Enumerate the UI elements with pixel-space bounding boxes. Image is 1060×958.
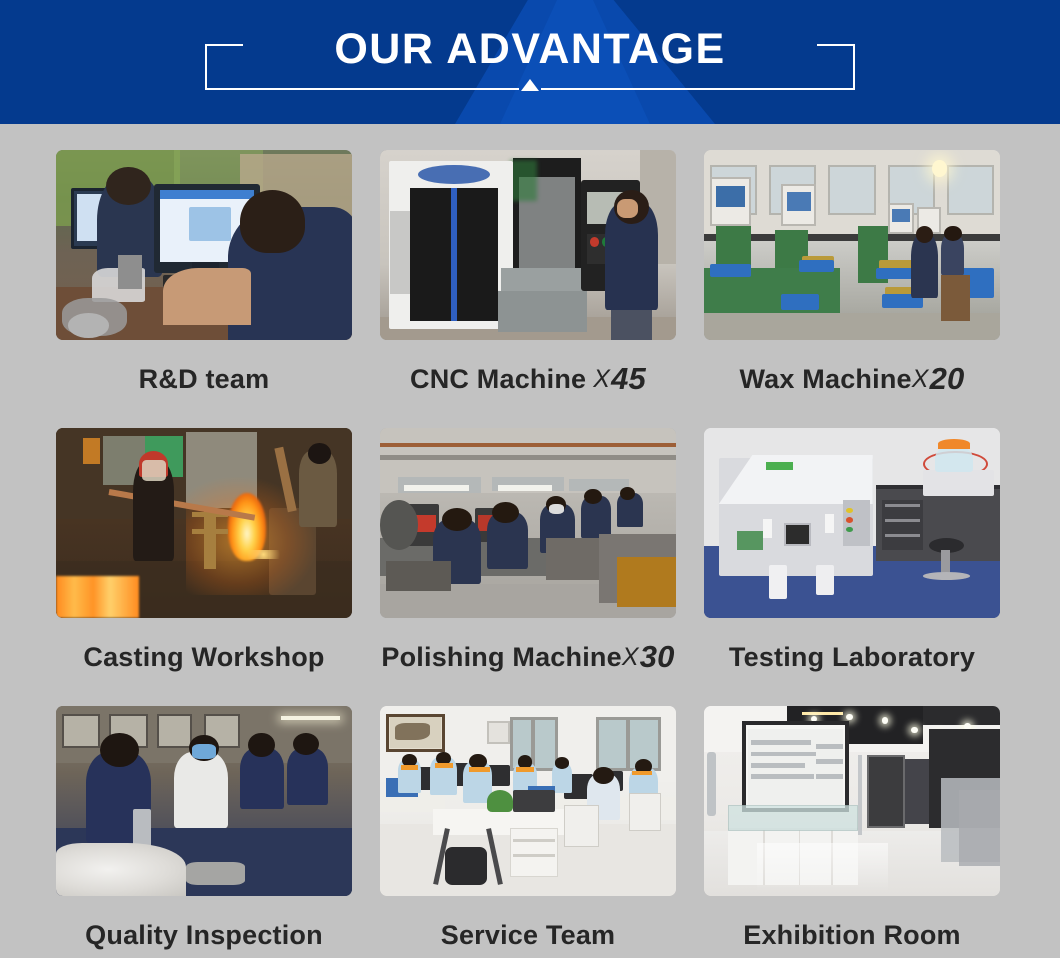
worker-head-2 bbox=[944, 226, 962, 241]
card-wax-machine[interactable]: Wax Machine X 20 bbox=[704, 150, 1000, 418]
page-title: OUR ADVANTAGE bbox=[0, 24, 1060, 74]
pen-cup bbox=[118, 255, 142, 289]
caption-service-team: Service Team bbox=[380, 896, 676, 958]
caption-label: CNC Machine bbox=[410, 364, 586, 395]
blue-bin bbox=[710, 264, 751, 277]
operator-face bbox=[617, 199, 638, 218]
product-rail bbox=[816, 759, 843, 764]
caption-exhibition-room: Exhibition Room bbox=[704, 896, 1000, 958]
instrument-dome bbox=[935, 445, 973, 472]
frame-bottom-right-rule bbox=[541, 88, 855, 90]
ceiling-light-icon bbox=[281, 716, 340, 721]
chamber-tag-2 bbox=[825, 514, 834, 533]
parts-cart bbox=[546, 538, 599, 580]
floor-fan-icon bbox=[380, 500, 418, 549]
instrument-cap bbox=[938, 439, 971, 449]
engineer-right-arm bbox=[163, 268, 252, 325]
card-polishing-machine[interactable]: Polishing Machine X 30 bbox=[380, 428, 676, 696]
staff-head-seated bbox=[593, 767, 614, 784]
caption-label: Wax Machine bbox=[739, 364, 911, 395]
foundry-worker-faceshield bbox=[142, 460, 166, 481]
cad-toolbar bbox=[160, 190, 255, 200]
test-instrument bbox=[923, 470, 994, 497]
air-conditioner bbox=[487, 721, 511, 744]
downlight-icon bbox=[882, 717, 889, 723]
cabinet-drawer-line bbox=[513, 854, 554, 857]
staff-collar bbox=[435, 763, 453, 768]
caption-cnc-machine: CNC Machine X 45 bbox=[380, 340, 676, 418]
metal-parts-2 bbox=[68, 313, 109, 338]
caption-label: Polishing Machine bbox=[381, 642, 621, 673]
photo-exhibition-room[interactable] bbox=[704, 706, 1000, 896]
drawer-handle bbox=[885, 504, 921, 507]
gloved-hand bbox=[109, 816, 136, 831]
office-chair bbox=[564, 805, 600, 847]
photo-testing-laboratory[interactable] bbox=[704, 428, 1000, 618]
staff-collar bbox=[516, 767, 534, 772]
caption-label: Casting Workshop bbox=[83, 642, 324, 673]
glass-counter bbox=[728, 805, 858, 832]
card-rd-team[interactable]: R&D team bbox=[56, 150, 352, 418]
photo-quality-inspection[interactable] bbox=[56, 706, 352, 896]
overhead-beam bbox=[380, 455, 676, 461]
product-rail bbox=[816, 744, 843, 749]
caption-polishing-machine: Polishing Machine X 30 bbox=[380, 618, 676, 696]
advantage-page: OUR ADVANTAGE bbox=[0, 0, 1060, 958]
caption-count: 30 bbox=[640, 639, 675, 675]
card-exhibition-room[interactable]: Exhibition Room bbox=[704, 706, 1000, 958]
caption-label: Quality Inspection bbox=[85, 920, 323, 951]
drawer-handle bbox=[885, 534, 921, 537]
control-screen bbox=[787, 192, 811, 211]
orange-equipment bbox=[83, 438, 101, 465]
caption-label: R&D team bbox=[139, 364, 270, 395]
button-red-icon bbox=[590, 237, 599, 247]
worker-body bbox=[911, 234, 938, 299]
window-mullion bbox=[626, 717, 630, 770]
chamber-viewport bbox=[784, 523, 811, 546]
worker-head bbox=[442, 508, 472, 531]
machine-brand-logo bbox=[418, 165, 489, 184]
staff-head bbox=[555, 757, 570, 768]
caption-count: 45 bbox=[611, 361, 646, 397]
machine-indicator-glow bbox=[510, 160, 537, 202]
chamber-tag bbox=[763, 519, 772, 538]
ceiling-light-strip bbox=[802, 712, 843, 715]
caption-wax-machine: Wax Machine X 20 bbox=[704, 340, 1000, 418]
gloved-hand bbox=[174, 812, 198, 825]
gloved-hand bbox=[225, 801, 246, 812]
hardware-rack-2 bbox=[959, 790, 1000, 866]
worker-face-mask bbox=[549, 504, 564, 514]
photo-casting-workshop[interactable] bbox=[56, 428, 352, 618]
sparks bbox=[240, 550, 287, 560]
pallet-jack bbox=[617, 557, 676, 606]
factory-window bbox=[62, 714, 100, 748]
desk-center bbox=[433, 809, 581, 836]
caption-quality-inspection: Quality Inspection bbox=[56, 896, 352, 958]
card-casting-workshop[interactable]: Casting Workshop bbox=[56, 428, 352, 696]
window-panel bbox=[828, 165, 875, 214]
blue-bin bbox=[799, 260, 835, 271]
product-rail bbox=[751, 752, 816, 757]
staff-collar bbox=[401, 765, 419, 770]
support-pole bbox=[858, 755, 862, 835]
pouring-stand-arm-2 bbox=[192, 529, 228, 535]
product-rail bbox=[816, 774, 843, 779]
product-rail bbox=[751, 740, 810, 745]
engineer-left-head bbox=[106, 167, 150, 205]
worker-head bbox=[492, 502, 519, 523]
caption-multiplier: X bbox=[912, 365, 929, 394]
control-screen bbox=[716, 186, 746, 207]
foundry-worker-2-head bbox=[308, 443, 332, 464]
triangle-marker-icon bbox=[521, 79, 539, 91]
reagent-bottle-2 bbox=[816, 565, 834, 595]
worker-head bbox=[100, 733, 138, 767]
photo-polishing-machine[interactable] bbox=[380, 428, 676, 618]
downlight-icon bbox=[911, 727, 918, 733]
photo-cnc-machine[interactable] bbox=[380, 150, 676, 340]
caption-label: Testing Laboratory bbox=[729, 642, 975, 673]
work-light bbox=[498, 485, 551, 491]
caption-count: 20 bbox=[930, 361, 965, 397]
worker-head bbox=[584, 489, 602, 504]
worker-face-mask bbox=[192, 744, 216, 759]
product-rail bbox=[751, 763, 804, 768]
advantage-grid: R&D team bbox=[0, 124, 1060, 958]
cabinet-drawer-line bbox=[513, 839, 554, 842]
carton-box bbox=[299, 793, 340, 827]
window-panel bbox=[947, 165, 994, 214]
overhead-pipe bbox=[380, 443, 676, 447]
extraction-hood bbox=[569, 479, 628, 490]
caption-testing-laboratory: Testing Laboratory bbox=[704, 618, 1000, 696]
product-rail bbox=[751, 774, 813, 779]
card-cnc-machine[interactable]: CNC Machine X 45 bbox=[380, 150, 676, 418]
ceiling-dark-panel-2 bbox=[923, 706, 1000, 725]
bench-drawers bbox=[882, 500, 923, 549]
painting-motif bbox=[395, 723, 431, 740]
desk-plant bbox=[487, 790, 514, 813]
frame-bottom-left-rule bbox=[205, 88, 519, 90]
printer bbox=[513, 790, 554, 813]
machine-vent bbox=[390, 211, 411, 295]
caption-label: Service Team bbox=[441, 920, 616, 951]
glass-partition bbox=[867, 755, 905, 827]
card-testing-laboratory[interactable]: Testing Laboratory bbox=[704, 428, 1000, 696]
metal-parts bbox=[186, 862, 245, 885]
caption-rd-team: R&D team bbox=[56, 340, 352, 418]
door-handle-display bbox=[707, 752, 716, 817]
factory-window bbox=[157, 714, 193, 748]
glowing-molds bbox=[56, 576, 139, 618]
caption-multiplier: X bbox=[622, 643, 639, 672]
blue-bin bbox=[781, 294, 819, 309]
foam-sleeve-pile bbox=[56, 843, 186, 896]
control-screen bbox=[892, 209, 910, 222]
worker-head bbox=[248, 733, 275, 758]
machine-door-stripe bbox=[451, 188, 457, 321]
caption-casting-workshop: Casting Workshop bbox=[56, 618, 352, 696]
reagent-bottle bbox=[769, 565, 787, 599]
machine-chip-tray bbox=[501, 268, 584, 291]
card-quality-inspection[interactable]: Quality Inspection bbox=[56, 706, 352, 958]
caption-multiplier: X bbox=[593, 365, 610, 394]
wooden-stool bbox=[941, 275, 971, 321]
banner: OUR ADVANTAGE bbox=[0, 0, 1060, 124]
tool-tray bbox=[386, 561, 451, 591]
worker-head bbox=[620, 487, 635, 500]
chamber-sticker bbox=[737, 531, 764, 550]
caption-label: Exhibition Room bbox=[743, 920, 960, 951]
staff-collar bbox=[469, 767, 490, 772]
lab-stool-base bbox=[923, 572, 970, 580]
carton-box bbox=[242, 811, 295, 860]
downlight-icon bbox=[846, 714, 853, 720]
pedestal-cabinet bbox=[510, 828, 557, 877]
cad-model bbox=[189, 207, 230, 241]
machine-base bbox=[498, 291, 587, 333]
engineer-right-head bbox=[240, 190, 305, 253]
floor-reflection bbox=[757, 843, 887, 892]
ceiling-lamp-icon bbox=[932, 160, 947, 177]
card-service-team[interactable]: Service Team bbox=[380, 706, 676, 958]
photo-service-team[interactable] bbox=[380, 706, 676, 896]
office-chair bbox=[629, 793, 662, 831]
photo-rd-team[interactable] bbox=[56, 150, 352, 340]
glass-partition-2 bbox=[905, 759, 929, 824]
backpack bbox=[445, 847, 486, 885]
photo-wax-machine[interactable] bbox=[704, 150, 1000, 340]
chamber-label bbox=[766, 462, 793, 470]
staff-collar bbox=[632, 771, 653, 776]
drawer-handle bbox=[885, 519, 921, 522]
work-light bbox=[404, 485, 469, 491]
blue-bin bbox=[876, 268, 914, 279]
chamber-control-panel bbox=[843, 500, 870, 546]
